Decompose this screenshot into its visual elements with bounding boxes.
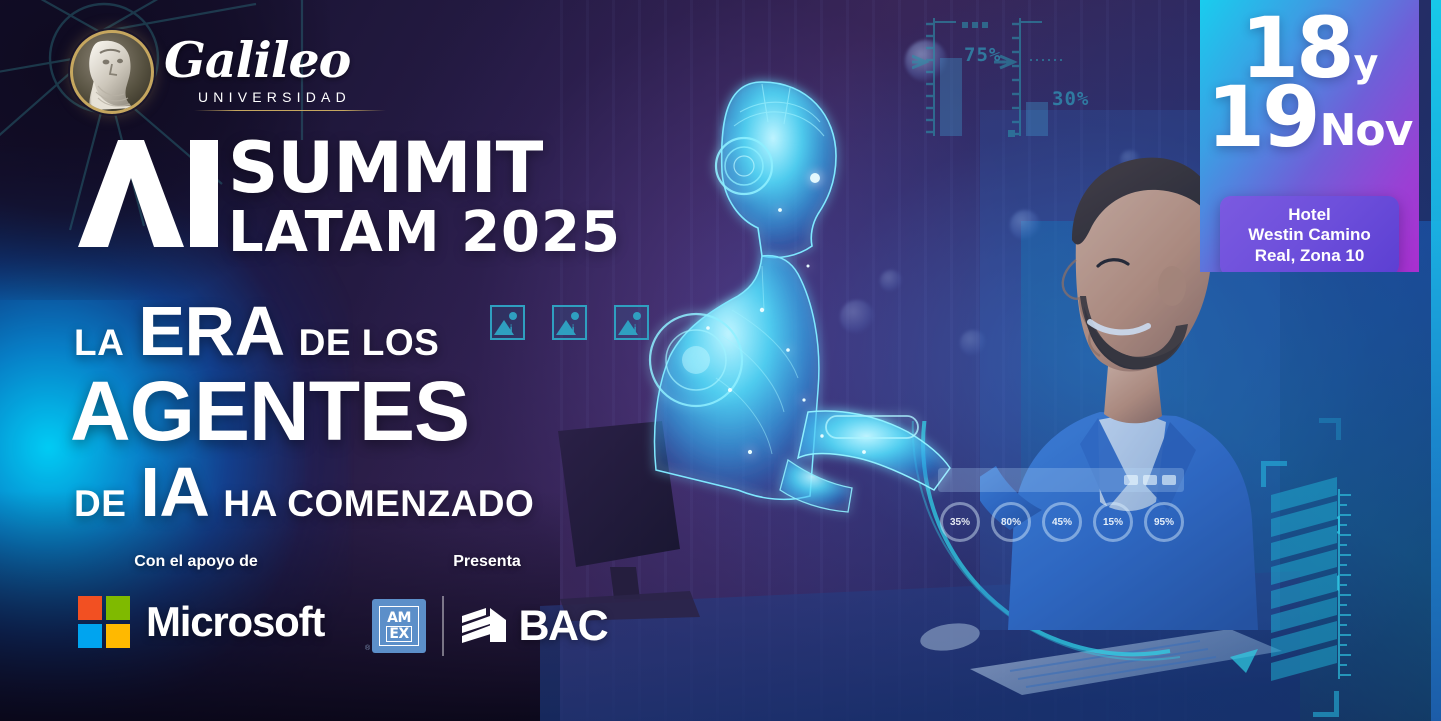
- galileo-university-logo[interactable]: Galileo UNIVERSIDAD: [70, 28, 390, 120]
- donut-ring-icon: [1093, 502, 1133, 542]
- presents-label: Presenta: [372, 553, 602, 571]
- dashboard-gauge-row: 35% 80% 45% 15% 95%: [940, 502, 1184, 542]
- donut-gauge: 45%: [1042, 502, 1082, 542]
- bac-wordmark: BAC: [519, 602, 608, 651]
- tagline-ia: IA: [140, 457, 209, 527]
- date-conjunction: y: [1354, 48, 1379, 79]
- event-banner: Galileo UNIVERSIDAD: [0, 0, 1441, 721]
- event-title-block: SUMMIT LATAM 2025: [72, 132, 692, 262]
- galileo-medallion-icon: [70, 30, 154, 114]
- dashboard-titlebar: [938, 468, 1184, 492]
- bokeh-orb: [1120, 150, 1140, 170]
- right-edge-accent-strip: [1431, 0, 1441, 721]
- microsoft-square-green: [106, 596, 130, 620]
- microsoft-logo[interactable]: Microsoft: [78, 596, 324, 648]
- tagline-la: LA: [74, 324, 124, 361]
- galileo-script-text: Galileo: [164, 36, 350, 85]
- galileo-subtitle: UNIVERSIDAD: [198, 89, 351, 105]
- tagline-era: ERA: [138, 296, 284, 366]
- dashboard-overlay: 35% 80% 45% 15% 95%: [938, 468, 1184, 562]
- venue-line-2: Westin Camino: [1228, 225, 1391, 245]
- bokeh-orb: [720, 120, 744, 144]
- date-day-2: 19: [1207, 83, 1318, 152]
- galileo-underline: [194, 110, 386, 111]
- amex-inner-frame: AM EX: [379, 606, 419, 646]
- sponsor-area: Con el apoyo de Microsoft Presenta AM EX: [0, 553, 660, 683]
- sponsor-divider: [442, 596, 444, 656]
- tagline-de: DE: [74, 485, 126, 522]
- tagline-ha-comenzado: HA COMENZADO: [223, 485, 534, 522]
- support-label: Con el apoyo de: [78, 553, 314, 571]
- donut-gauge: 35%: [940, 502, 980, 542]
- hud-gauge-svg: [912, 8, 1092, 140]
- title-latam-year: LATAM 2025: [228, 204, 621, 263]
- ruler-scale-decoration: [1337, 489, 1363, 679]
- donut-ring-icon: [1042, 502, 1082, 542]
- donut-gauge: 95%: [1144, 502, 1184, 542]
- donut-ring-icon: [1144, 502, 1184, 542]
- donut-gauge: 15%: [1093, 502, 1133, 542]
- bac-logo[interactable]: BAC: [460, 602, 608, 651]
- microsoft-square-blue: [78, 624, 102, 648]
- tagline-de-los: DE LOS: [299, 324, 440, 361]
- sponsor-group-presents: Presenta AM EX ®: [372, 553, 607, 656]
- donut-gauge: 80%: [991, 502, 1031, 542]
- bokeh-orb: [840, 300, 874, 334]
- event-date-panel: 18 y 19 Nov Hotel Westin Camino Real, Zo…: [1200, 0, 1419, 272]
- sponsor-group-support: Con el apoyo de Microsoft: [78, 553, 324, 648]
- donut-ring-icon: [991, 502, 1031, 542]
- slanted-bars-decoration: [1271, 473, 1343, 703]
- hud-bar-gauges: 75% 30%: [912, 8, 1092, 140]
- microsoft-wordmark: Microsoft: [146, 598, 324, 646]
- galileo-wordmark: Galileo UNIVERSIDAD: [154, 34, 390, 118]
- date-row-second: 19 Nov: [1200, 83, 1419, 152]
- presenting-sponsors-row: AM EX ® BAC: [372, 596, 607, 656]
- tagline-agentes: AGENTES: [70, 369, 469, 453]
- venue-line-1: Hotel: [1228, 205, 1391, 225]
- date-numbers: 18 y 19 Nov: [1200, 14, 1419, 152]
- corner-bracket-decoration: [1319, 418, 1341, 440]
- title-summit: SUMMIT: [228, 138, 621, 200]
- venue-line-3: Real, Zona 10: [1228, 246, 1391, 266]
- bac-mark-icon: [460, 602, 510, 650]
- amex-logo[interactable]: AM EX ®: [372, 599, 426, 653]
- amex-top-text: AM: [387, 611, 411, 625]
- date-month: Nov: [1320, 113, 1413, 149]
- window-dot-icon: [1143, 475, 1157, 485]
- amex-bottom-text: EX: [386, 626, 411, 642]
- bokeh-orb: [880, 270, 902, 292]
- event-tagline: LA ERA DE LOS AGENTES DE IA HA COMENZADO: [74, 296, 694, 527]
- window-dot-icon: [1162, 475, 1176, 485]
- microsoft-square-orange: [78, 596, 102, 620]
- venue-badge[interactable]: Hotel Westin Camino Real, Zona 10: [1220, 196, 1399, 272]
- donut-ring-icon: [940, 502, 980, 542]
- corner-bracket-decoration: [1313, 691, 1339, 717]
- hud-gauge-2-value: 30%: [1052, 88, 1089, 110]
- corner-bracket-decoration: [1261, 461, 1287, 487]
- hud-gauge-1-value: 75%: [964, 44, 1001, 66]
- bokeh-orb: [960, 330, 986, 356]
- microsoft-square-yellow: [106, 624, 130, 648]
- bokeh-orb: [1010, 210, 1040, 240]
- window-dot-icon: [1124, 475, 1138, 485]
- ai-monogram-icon: [72, 136, 224, 251]
- microsoft-squares-icon: [78, 596, 130, 648]
- registered-mark: ®: [365, 645, 370, 652]
- galileo-bust-icon: [76, 36, 148, 112]
